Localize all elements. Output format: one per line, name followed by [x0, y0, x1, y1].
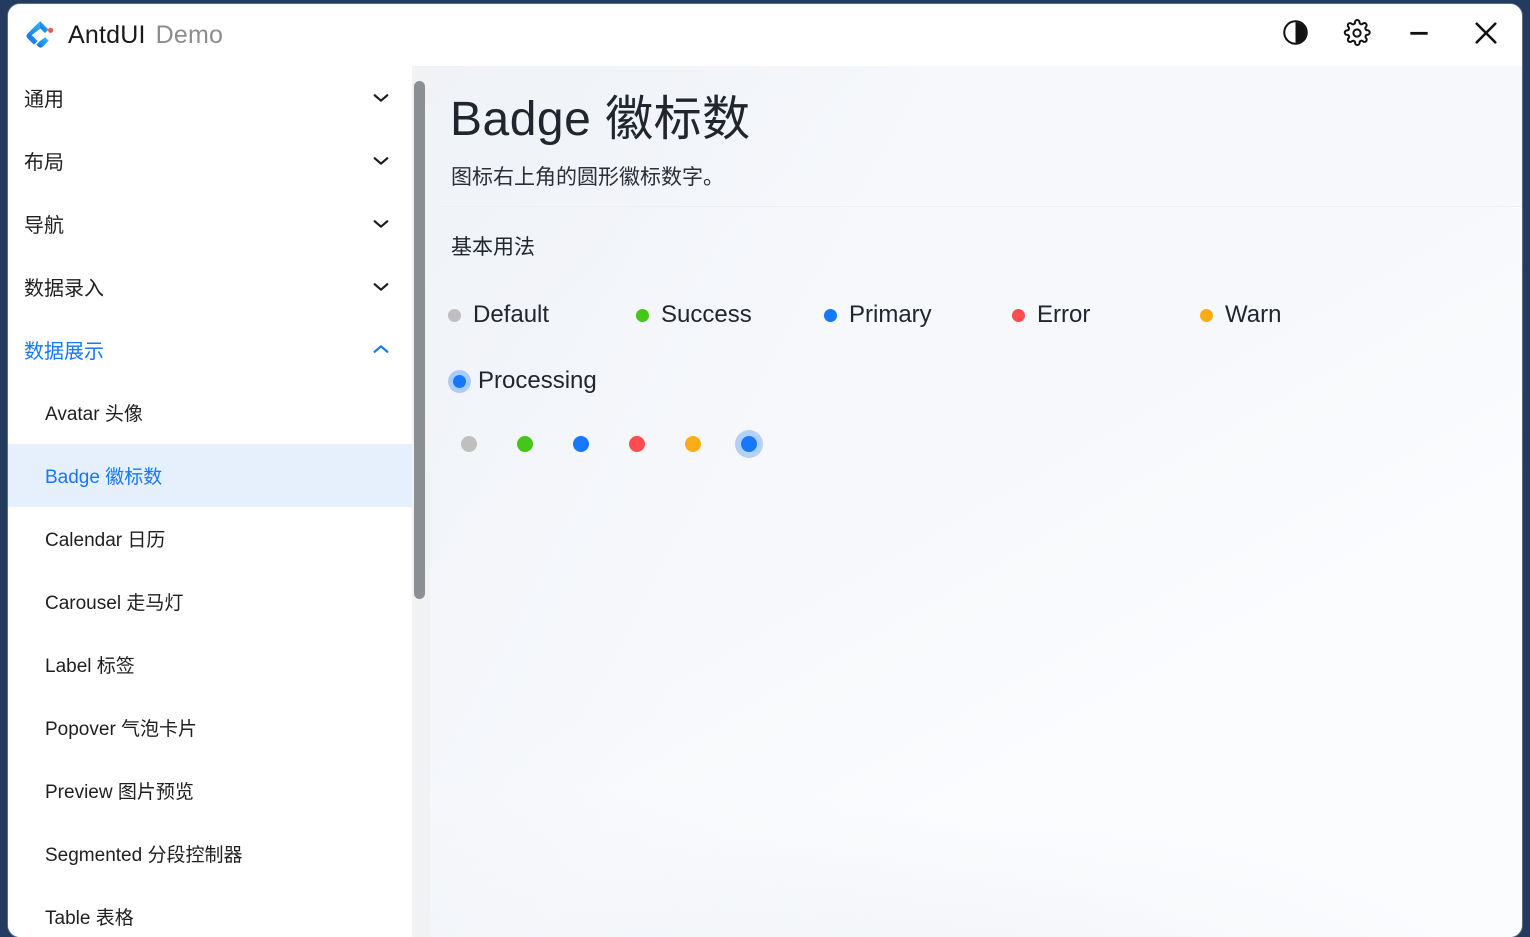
minimize-icon: [1406, 20, 1432, 51]
badge-processing-dot-icon: [741, 436, 757, 452]
badge-dot-icon: [448, 309, 461, 322]
settings-button[interactable]: [1326, 4, 1388, 66]
chevron-up-icon: [372, 344, 390, 355]
badge-success: Success: [636, 282, 824, 348]
badge-error: Error: [1012, 282, 1200, 348]
badge-dot-icon: [629, 436, 645, 452]
sidebar-group-navigation[interactable]: 导航: [8, 192, 412, 255]
chevron-down-icon: [372, 218, 390, 229]
badge-dot-warn: [672, 414, 728, 474]
sidebar-item-avatar[interactable]: Avatar 头像: [8, 381, 412, 444]
badge-primary: Primary: [824, 282, 1012, 348]
sidebar-item-label: Carousel 走马灯: [45, 588, 183, 615]
badge-dot-icon: [517, 436, 533, 452]
sidebar-item-badge[interactable]: Badge 徽标数: [8, 444, 412, 507]
sidebar-item-label[interactable]: Label 标签: [8, 633, 412, 696]
sidebar-item-label: Badge 徽标数: [45, 462, 162, 489]
sidebar-group-label: 布局: [24, 146, 64, 175]
sidebar-group-data-entry[interactable]: 数据录入: [8, 255, 412, 318]
page-title: Badge 徽标数: [450, 79, 751, 149]
badge-dot-icon: [573, 436, 589, 452]
close-icon: [1470, 17, 1502, 54]
badge-label: Primary: [849, 301, 932, 329]
badge-dot-icon: [1200, 309, 1213, 322]
badge-label: Default: [473, 301, 549, 329]
sidebar-item-carousel[interactable]: Carousel 走马灯: [8, 570, 412, 633]
badge-label: Error: [1037, 301, 1090, 329]
sidebar-item-table[interactable]: Table 表格: [8, 885, 412, 937]
sidebar-group-label: 通用: [24, 83, 64, 112]
chevron-down-icon: [372, 92, 390, 103]
antdui-logo-icon: [24, 19, 56, 51]
sidebar-group-layout[interactable]: 布局: [8, 129, 412, 192]
badge-dot-icon: [824, 309, 837, 322]
badge-dot-list: [448, 414, 784, 474]
title-bar-brand: AntdUI Demo: [8, 19, 223, 51]
sidebar-item-label: Segmented 分段控制器: [45, 840, 242, 867]
chevron-down-icon: [372, 155, 390, 166]
page-description: 图标右上角的圆形徽标数字。: [451, 161, 724, 191]
badge-dot-success: [504, 414, 560, 474]
title-bar: AntdUI Demo: [8, 4, 1522, 66]
badge-processing-dot-icon: [453, 375, 466, 388]
sidebar-group-label: 数据录入: [24, 272, 104, 301]
sidebar-item-label: Avatar 头像: [45, 399, 143, 426]
sidebar-item-popover[interactable]: Popover 气泡卡片: [8, 696, 412, 759]
theme-toggle-button[interactable]: [1264, 4, 1326, 66]
app-title: AntdUI: [68, 21, 146, 50]
badge-label: Processing: [478, 367, 597, 395]
content-area: Badge 徽标数 图标右上角的圆形徽标数字。 基本用法 Default Suc…: [430, 66, 1522, 937]
sidebar-item-calendar[interactable]: Calendar 日历: [8, 507, 412, 570]
sidebar-item-label: Preview 图片预览: [45, 777, 194, 804]
badge-dot-primary: [560, 414, 616, 474]
badge-label: Success: [661, 301, 752, 329]
theme-toggle-icon: [1282, 19, 1309, 51]
badge-labeled-list: Default Success Primary Error Warn Proce…: [448, 282, 1488, 414]
sidebar-scrollbar-thumb[interactable]: [414, 81, 425, 599]
chevron-down-icon: [372, 281, 390, 292]
badge-dot-processing: [728, 414, 784, 474]
minimize-button[interactable]: [1388, 4, 1450, 66]
sidebar-item-label: Calendar 日历: [45, 525, 165, 552]
section-title: 基本用法: [451, 231, 535, 261]
badge-processing: Processing: [448, 348, 636, 414]
window-controls: [1264, 4, 1522, 66]
close-button[interactable]: [1450, 4, 1522, 66]
badge-dot-icon: [1012, 309, 1025, 322]
sidebar-group-data-display[interactable]: 数据展示: [8, 318, 412, 381]
app-subtitle: Demo: [156, 21, 224, 50]
sidebar-item-preview[interactable]: Preview 图片预览: [8, 759, 412, 822]
badge-dot-icon: [636, 309, 649, 322]
badge-dot-icon: [461, 436, 477, 452]
divider: [438, 206, 1522, 207]
badge-dot-icon: [685, 436, 701, 452]
badge-warn: Warn: [1200, 282, 1388, 348]
sidebar-group-label: 导航: [24, 209, 64, 238]
badge-default: Default: [448, 282, 636, 348]
sidebar-group-general[interactable]: 通用: [8, 66, 412, 129]
badge-dot-error: [616, 414, 672, 474]
sidebar-item-label: Table 表格: [45, 903, 134, 930]
gear-icon: [1343, 19, 1371, 52]
sidebar-item-segmented[interactable]: Segmented 分段控制器: [8, 822, 412, 885]
sidebar[interactable]: 通用 布局 导航 数据录入 数据展示: [8, 66, 412, 937]
sidebar-item-label: Label 标签: [45, 651, 135, 678]
badge-label: Warn: [1225, 301, 1281, 329]
sidebar-item-label: Popover 气泡卡片: [45, 714, 197, 741]
app-window: AntdUI Demo: [8, 4, 1522, 937]
sidebar-group-label: 数据展示: [24, 335, 104, 364]
badge-dot-default: [448, 414, 504, 474]
